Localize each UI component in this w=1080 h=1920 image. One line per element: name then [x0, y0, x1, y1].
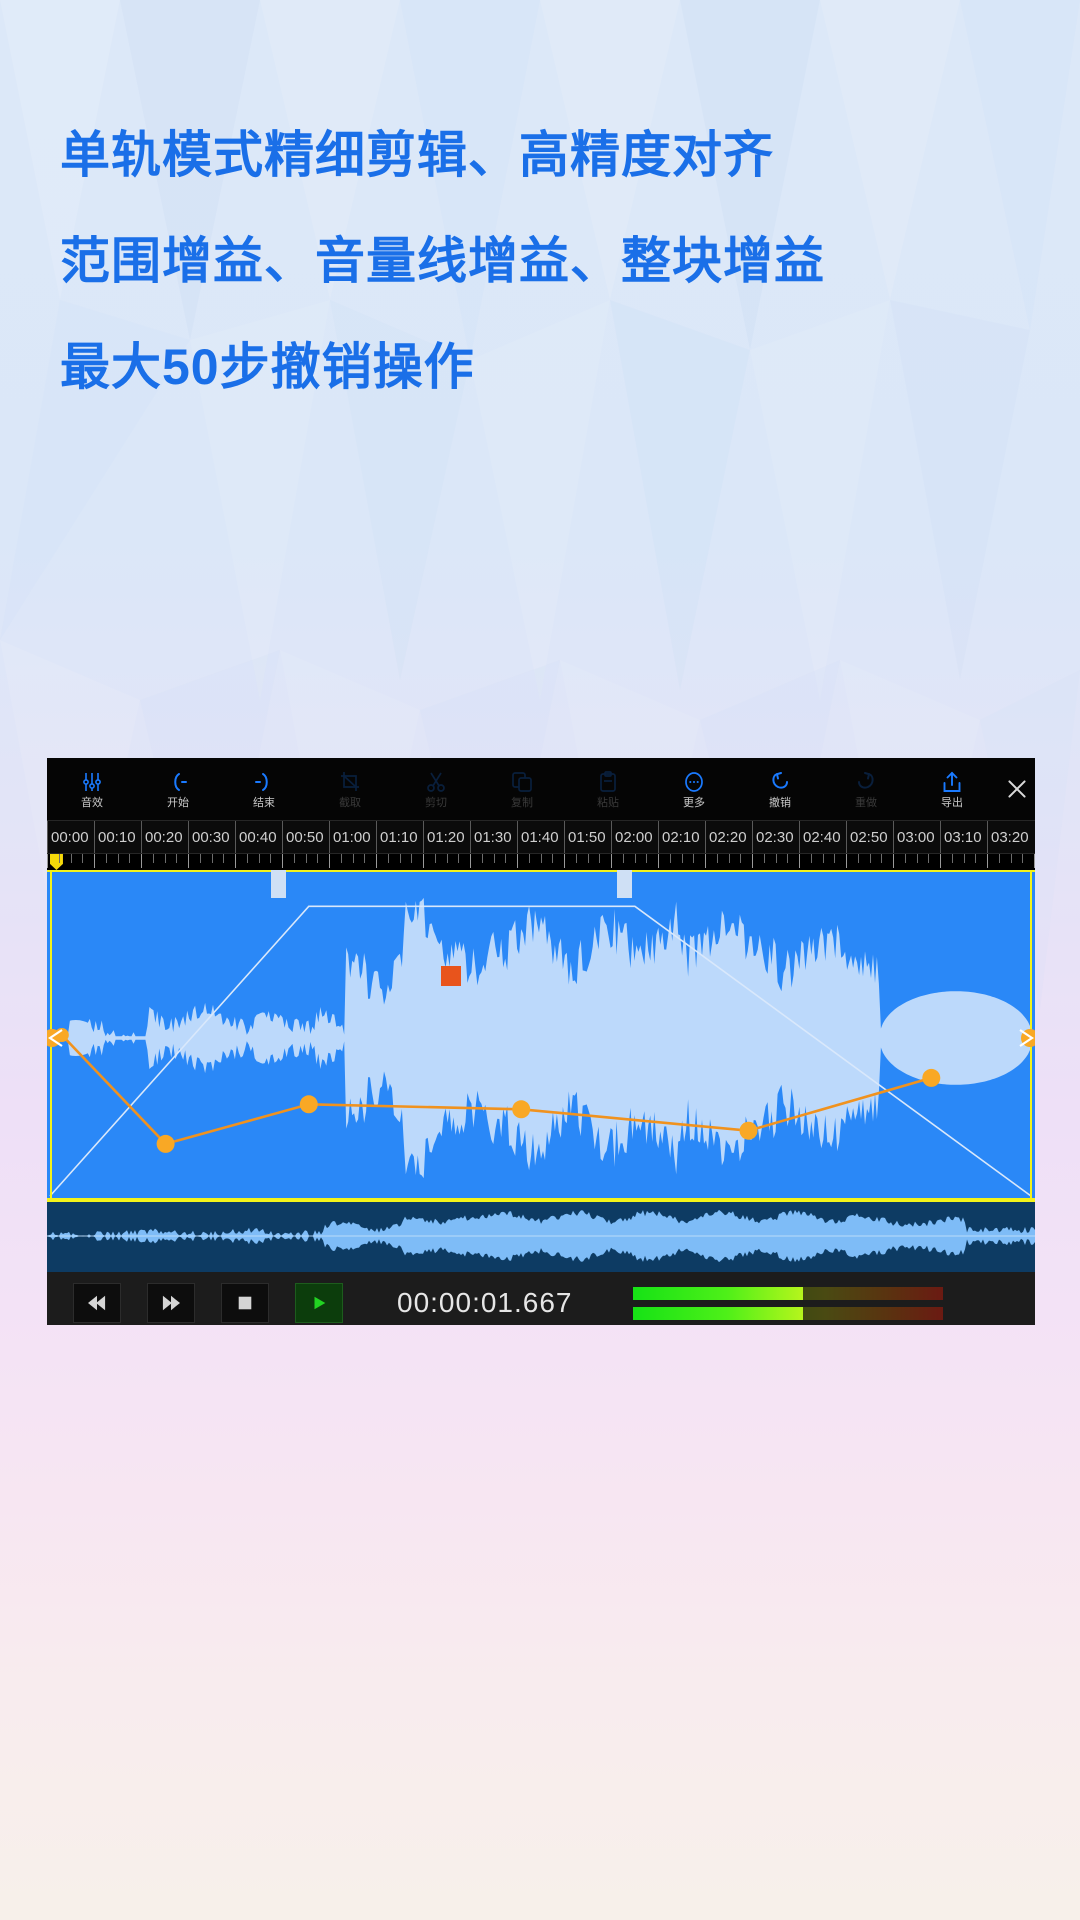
- stop-button[interactable]: [221, 1283, 269, 1323]
- crop-icon: [338, 769, 362, 795]
- selection-end-handle[interactable]: [1020, 1029, 1035, 1047]
- ruler-tick-label: 02:30: [752, 821, 799, 854]
- timeline-tick: [999, 854, 1000, 863]
- timeline-tick: [799, 854, 800, 868]
- toolbar-label-sound-effects: 音效: [81, 798, 103, 809]
- timeline-tick: [294, 854, 295, 863]
- timeline-tick: [917, 854, 918, 863]
- ruler-tick-label: 02:40: [799, 821, 846, 854]
- waveform-editor[interactable]: [47, 870, 1035, 1200]
- timeline-tick: [940, 854, 941, 868]
- timeline-tick: [975, 854, 976, 863]
- fast-forward-icon: [160, 1294, 182, 1312]
- timeline-tick: [987, 854, 988, 868]
- timeline-tick: [282, 854, 283, 868]
- export-upload-icon: [940, 769, 964, 795]
- volume-node-handle[interactable]: [512, 1100, 530, 1118]
- timeline-tick: [447, 854, 448, 863]
- timeline-tick: [811, 854, 812, 863]
- toolbar-label-mark-end: 结束: [253, 798, 275, 809]
- toolbar-item-mark-end[interactable]: 结束: [221, 760, 307, 818]
- timeline-tick: [658, 854, 659, 868]
- timeline-tick: [59, 854, 60, 863]
- volume-automation-line[interactable]: [47, 870, 1035, 1200]
- timeline-tick: [505, 854, 506, 863]
- timeline-ruler[interactable]: 00:0000:1000:2000:3000:4000:5001:0001:10…: [47, 820, 1035, 854]
- toolbar-label-undo: 撤销: [769, 798, 791, 809]
- timeline-tick: [564, 854, 565, 868]
- transport-bar: 00:00:01.667: [47, 1272, 1035, 1325]
- toolbar-label-mark-start: 开始: [167, 798, 189, 809]
- timeline-tick: [635, 854, 636, 863]
- more-dots-icon: [682, 769, 706, 795]
- timeline-tick: [259, 854, 260, 863]
- audio-editor-app-panel: 音效 开始 结束: [47, 758, 1035, 1325]
- timeline-tick: [952, 854, 953, 863]
- play-icon: [310, 1294, 328, 1312]
- ruler-tick-label: 00:10: [94, 821, 141, 854]
- timeline-tick: [376, 854, 377, 868]
- rewind-icon: [86, 1294, 108, 1312]
- timeline-tick: [881, 854, 882, 863]
- ruler-tick-label: 02:10: [658, 821, 705, 854]
- ruler-tick-label: 03:20: [987, 821, 1034, 854]
- timeline-tick: [435, 854, 436, 863]
- timeline-tick: [212, 854, 213, 863]
- timeline-tick: [787, 854, 788, 863]
- ruler-tick-label: 01:20: [423, 821, 470, 854]
- timeline-tick: [458, 854, 459, 863]
- timeline-tick: [341, 854, 342, 863]
- timeline-tick: [693, 854, 694, 863]
- toolbar-label-redo: 重做: [855, 798, 877, 809]
- volume-line-path[interactable]: [62, 1035, 932, 1144]
- ruler-tick-label: 02:00: [611, 821, 658, 854]
- ruler-tick-label: 01:30: [470, 821, 517, 854]
- undo-icon: [768, 769, 792, 795]
- ruler-tick-label: 01:00: [329, 821, 376, 854]
- timeline-tick: [364, 854, 365, 863]
- toolbar-item-mark-start[interactable]: 开始: [135, 760, 221, 818]
- toolbar-item-export[interactable]: 导出: [909, 760, 995, 818]
- playback-time-display: 00:00:01.667: [397, 1287, 573, 1319]
- timeline-tick: [129, 854, 130, 863]
- ruler-tick-label: 02:50: [846, 821, 893, 854]
- redo-icon: [854, 769, 878, 795]
- timeline-tick: [235, 854, 236, 868]
- timeline-tick: [71, 854, 72, 863]
- toolbar-label-paste: 粘贴: [597, 798, 619, 809]
- timeline-tick: [517, 854, 518, 868]
- headline-line-1: 单轨模式精细剪辑、高精度对齐: [60, 130, 1020, 180]
- timeline-tick: [223, 854, 224, 863]
- paste-icon: [596, 769, 620, 795]
- timeline-tick: [353, 854, 354, 863]
- timeline-tick: [611, 854, 612, 868]
- level-meter-left: [633, 1287, 943, 1300]
- timeline-tick: [388, 854, 389, 863]
- toolbar-item-paste[interactable]: 粘贴: [565, 760, 651, 818]
- timeline-tick: [740, 854, 741, 863]
- editor-toolbar: 音效 开始 结束: [47, 758, 1035, 820]
- timeline-tick: [529, 854, 530, 863]
- timeline-tick: [1034, 854, 1035, 868]
- toolbar-item-copy[interactable]: 复制: [479, 760, 565, 818]
- timeline-tick: [176, 854, 177, 863]
- timeline-tick: [588, 854, 589, 863]
- timeline-tick: [47, 854, 48, 868]
- timeline-tick: [764, 854, 765, 863]
- timeline-tick: [423, 854, 424, 868]
- timeline-tick: [329, 854, 330, 868]
- toolbar-label-copy: 复制: [511, 798, 533, 809]
- timeline-tick: [1011, 854, 1012, 863]
- timeline-tick: [188, 854, 189, 868]
- timeline-tick: [834, 854, 835, 863]
- timeline-tick: [470, 854, 471, 868]
- playhead-handle[interactable]: [50, 854, 63, 870]
- toolbar-item-sound-effects[interactable]: 音效: [49, 760, 135, 818]
- close-icon: [1004, 776, 1030, 802]
- level-meter-right-fill: [633, 1307, 804, 1320]
- toolbar-label-more: 更多: [683, 798, 705, 809]
- timeline-tick: [729, 854, 730, 863]
- timeline-tick: [82, 854, 83, 863]
- timeline-tick: [94, 854, 95, 868]
- timeline-tick: [928, 854, 929, 863]
- level-meter-right: [633, 1307, 943, 1320]
- timeline-tick: [646, 854, 647, 863]
- toolbar-label-crop: 截取: [339, 798, 361, 809]
- rewind-button[interactable]: [73, 1283, 121, 1323]
- headline-line-3: 最大50步撤销操作: [60, 342, 1020, 392]
- timeline-tick: [270, 854, 271, 863]
- level-meters: [633, 1287, 943, 1320]
- timeline-tick: [623, 854, 624, 863]
- ruler-tick-label: 00:20: [141, 821, 188, 854]
- mark-end-icon: [252, 769, 276, 795]
- timeline-tick: [541, 854, 542, 863]
- copy-icon: [510, 769, 534, 795]
- timeline-tick: [705, 854, 706, 868]
- stop-icon: [236, 1294, 254, 1312]
- fast-forward-button[interactable]: [147, 1283, 195, 1323]
- scissors-icon: [424, 769, 448, 795]
- level-meter-left-fill: [633, 1287, 804, 1300]
- timeline-tick: [893, 854, 894, 868]
- ruler-tick-label: 00:00: [47, 821, 94, 854]
- play-button[interactable]: [295, 1283, 343, 1323]
- timeline-tick: [165, 854, 166, 863]
- timeline-tick: [964, 854, 965, 863]
- headline-line-2: 范围增益、音量线增益、整块增益: [60, 236, 1020, 286]
- mark-start-icon: [166, 769, 190, 795]
- toolbar-item-more[interactable]: 更多: [651, 760, 737, 818]
- timeline-tick: [118, 854, 119, 863]
- toolbar-label-export: 导出: [941, 798, 963, 809]
- ruler-tick-label: 01:50: [564, 821, 611, 854]
- timeline-tick: [870, 854, 871, 863]
- volume-node-handle[interactable]: [740, 1122, 758, 1140]
- toolbar-item-undo[interactable]: 撤销: [737, 760, 823, 818]
- volume-node-handle[interactable]: [922, 1069, 940, 1087]
- timeline-tick-strip[interactable]: [47, 854, 1035, 870]
- timeline-tick: [411, 854, 412, 863]
- sound-effects-icon: [80, 769, 104, 795]
- ruler-tick-label: 03:10: [940, 821, 987, 854]
- volume-node-handle[interactable]: [300, 1095, 318, 1113]
- timeline-tick: [717, 854, 718, 863]
- timeline-tick: [552, 854, 553, 863]
- timeline-tick: [494, 854, 495, 863]
- timeline-tick: [599, 854, 600, 863]
- ruler-tick-label: 01:10: [376, 821, 423, 854]
- timeline-tick: [776, 854, 777, 863]
- ruler-tick-label: 00:50: [282, 821, 329, 854]
- toolbar-item-cut[interactable]: 剪切: [393, 760, 479, 818]
- timeline-tick: [482, 854, 483, 863]
- selection-start-handle[interactable]: [47, 1029, 62, 1047]
- ruler-tick-label: 00:40: [235, 821, 282, 854]
- volume-node-handle[interactable]: [157, 1135, 175, 1153]
- waveform-overview-strip[interactable]: [47, 1200, 1035, 1272]
- ruler-tick-label: 02:20: [705, 821, 752, 854]
- timeline-tick: [141, 854, 142, 868]
- timeline-tick: [317, 854, 318, 863]
- timeline-tick: [752, 854, 753, 868]
- ruler-tick-label: 01:40: [517, 821, 564, 854]
- timeline-tick: [153, 854, 154, 863]
- timeline-tick: [306, 854, 307, 863]
- timeline-tick: [576, 854, 577, 863]
- close-button[interactable]: [1001, 760, 1033, 818]
- timeline-tick: [106, 854, 107, 863]
- ruler-tick-label: 03:00: [893, 821, 940, 854]
- toolbar-label-cut: 剪切: [425, 798, 447, 809]
- timeline-tick: [858, 854, 859, 863]
- headline: 单轨模式精细剪辑、高精度对齐 范围增益、音量线增益、整块增益 最大50步撤销操作: [60, 130, 1020, 448]
- timeline-tick: [823, 854, 824, 863]
- timeline-tick: [905, 854, 906, 863]
- toolbar-item-crop[interactable]: 截取: [307, 760, 393, 818]
- ruler-tick-label: 00:30: [188, 821, 235, 854]
- timeline-tick: [247, 854, 248, 863]
- timeline-tick: [682, 854, 683, 863]
- timeline-tick: [670, 854, 671, 863]
- toolbar-item-redo[interactable]: 重做: [823, 760, 909, 818]
- overview-waveform-graphic: [47, 1202, 1035, 1272]
- timeline-tick: [400, 854, 401, 863]
- timeline-tick: [200, 854, 201, 863]
- timeline-tick: [1022, 854, 1023, 863]
- timeline-tick: [846, 854, 847, 868]
